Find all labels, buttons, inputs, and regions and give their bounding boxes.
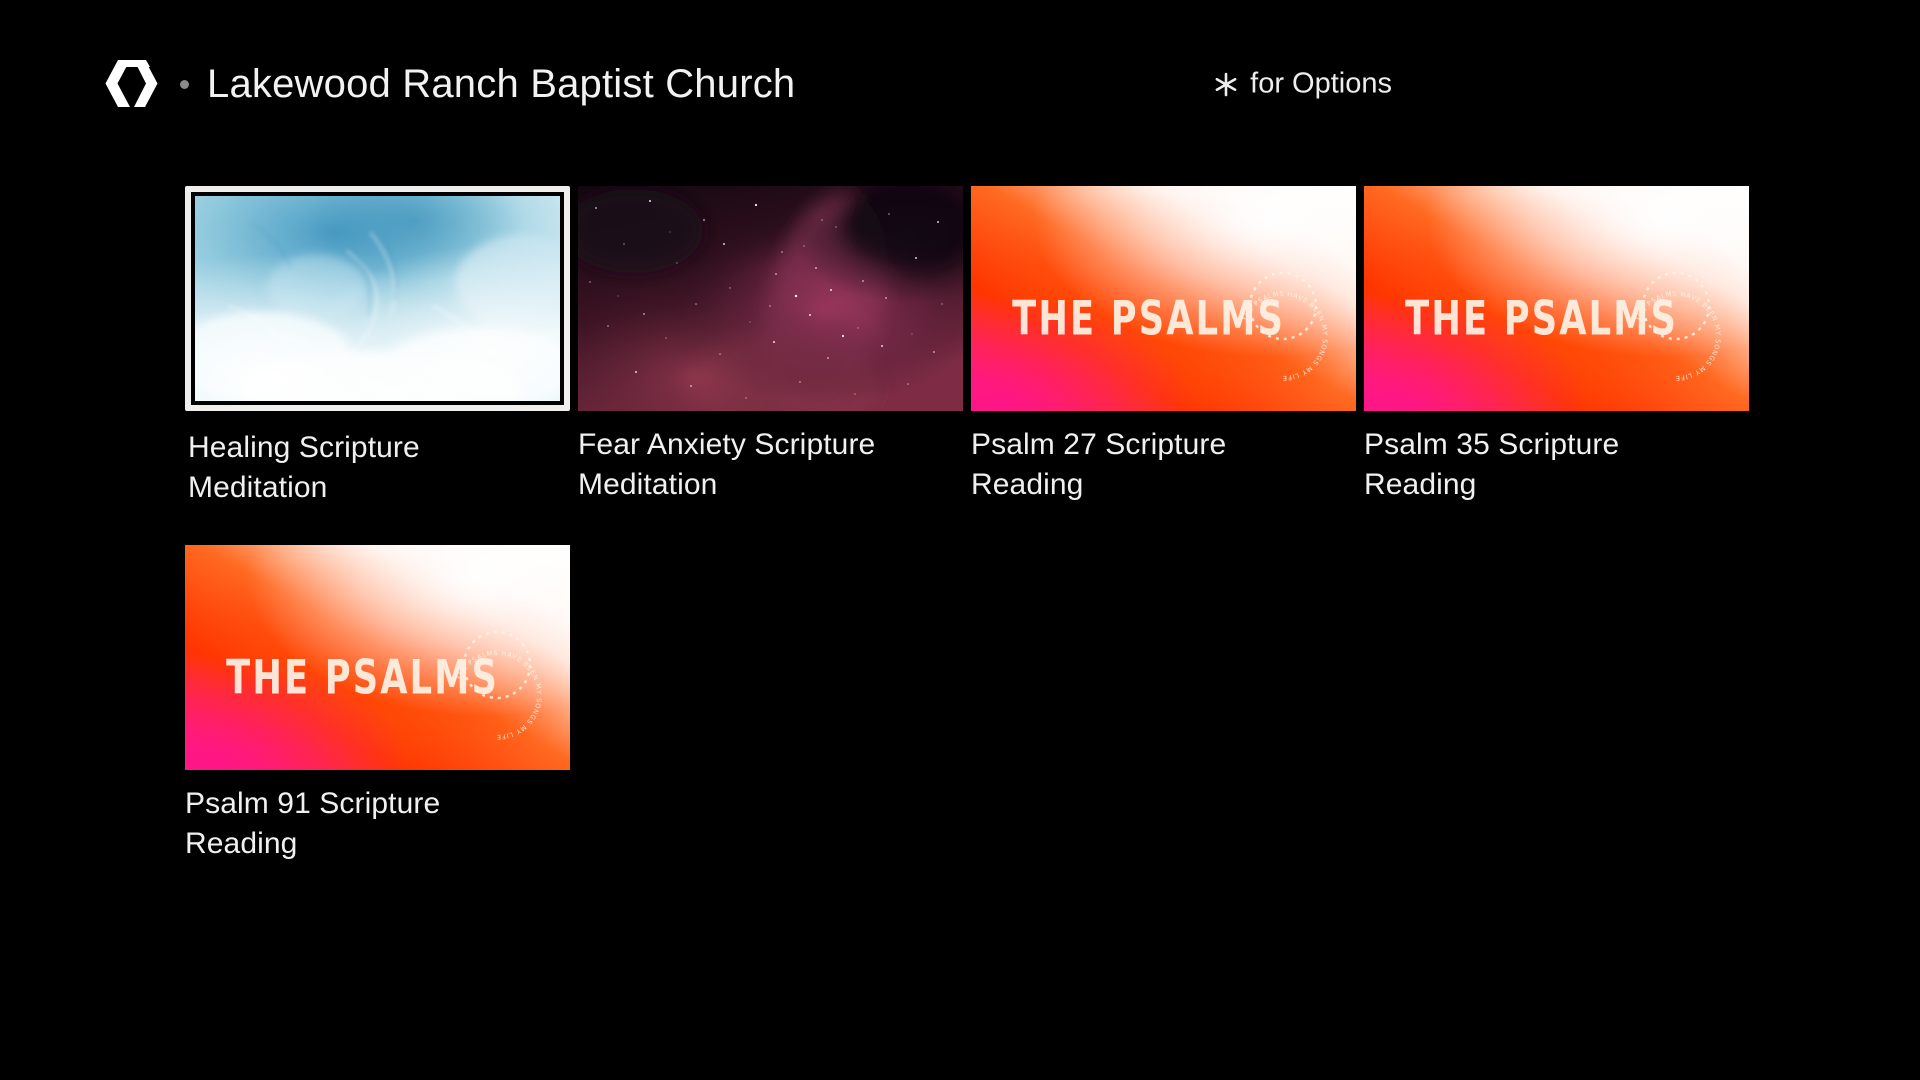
grid-item-title: Psalm 91 Scripture Reading	[185, 784, 545, 863]
grid-item-title: Psalm 35 Scripture Reading	[1364, 425, 1724, 504]
thumbnail-frame-focused[interactable]	[185, 186, 570, 411]
psalm-91-scripture-reading-thumbnail[interactable]: THE PSALMS THE PSALMS HAVE BEEN MY SONGS…	[185, 545, 570, 770]
church-hexagon-logo	[104, 58, 162, 110]
grid-item-title: Fear Anxiety Scripture Meditation	[578, 425, 938, 504]
thumbnail-frame[interactable]: THE PSALMS THE PSALMS HAVE BEEN MY SONGS…	[971, 186, 1356, 411]
healing-scripture-meditation-thumbnail[interactable]	[195, 196, 560, 401]
fear-anxiety-scripture-meditation-thumbnail[interactable]	[578, 186, 963, 411]
psalm-27-scripture-reading-thumbnail[interactable]: THE PSALMS THE PSALMS HAVE BEEN MY SONGS…	[971, 186, 1356, 411]
thumbnail-frame[interactable]	[578, 186, 963, 411]
grid-item[interactable]: THE PSALMS THE PSALMS HAVE BEEN MY SONGS…	[185, 545, 570, 863]
media-grid: Healing Scripture Meditation	[185, 186, 1885, 901]
dot-separator	[180, 80, 189, 89]
app-header: Lakewood Ranch Baptist Church for Option…	[0, 52, 1920, 116]
thumbnail-frame[interactable]: THE PSALMS THE PSALMS HAVE BEEN MY SONGS…	[1364, 186, 1749, 411]
asterisk-icon	[1213, 71, 1250, 97]
grid-item[interactable]: THE PSALMS THE PSALMS HAVE BEEN MY SONGS…	[1364, 186, 1749, 507]
tv-app-root: Lakewood Ranch Baptist Church for Option…	[0, 0, 1920, 1080]
grid-item[interactable]: Fear Anxiety Scripture Meditation	[578, 186, 963, 507]
page-title: Lakewood Ranch Baptist Church	[207, 64, 795, 104]
grid-item[interactable]: THE PSALMS THE PSALMS HAVE BEEN MY SONGS…	[971, 186, 1356, 507]
grid-item[interactable]: Healing Scripture Meditation	[185, 186, 570, 507]
options-hint[interactable]: for Options	[1213, 70, 1392, 99]
psalm-35-scripture-reading-thumbnail[interactable]: THE PSALMS THE PSALMS HAVE BEEN MY SONGS…	[1364, 186, 1749, 411]
grid-item-title: Healing Scripture Meditation	[188, 428, 548, 507]
brand-block: Lakewood Ranch Baptist Church	[104, 58, 795, 110]
thumbnail-frame[interactable]: THE PSALMS THE PSALMS HAVE BEEN MY SONGS…	[185, 545, 570, 770]
grid-item-title: Psalm 27 Scripture Reading	[971, 425, 1331, 504]
options-label: for Options	[1250, 70, 1392, 99]
